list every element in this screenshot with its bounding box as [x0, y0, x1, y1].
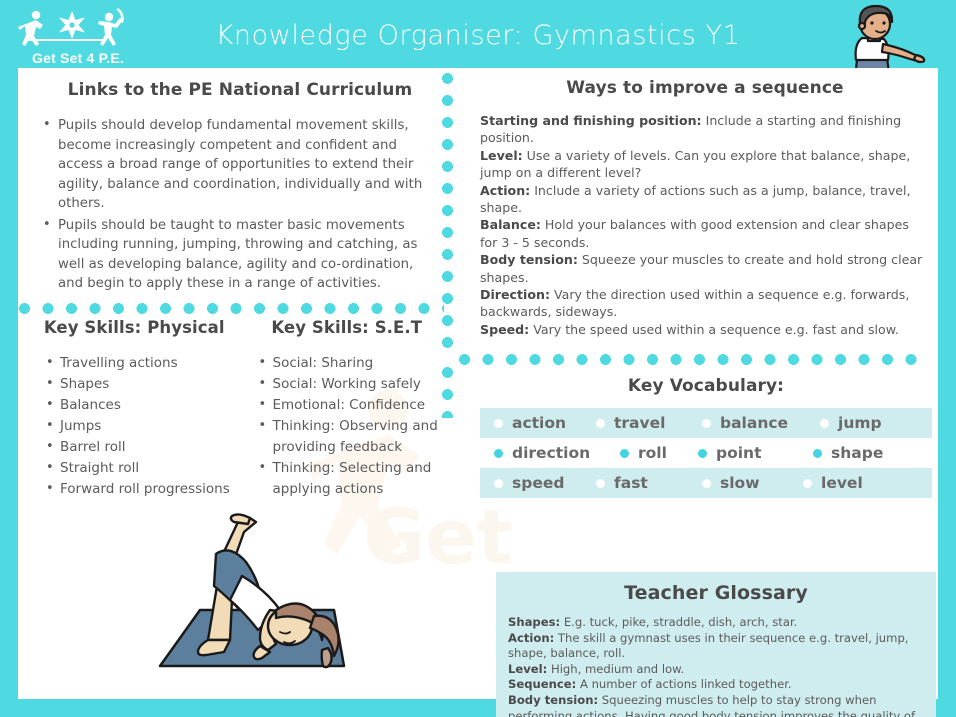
ways-entry: Body tension: Squeeze your muscles to cr… [480, 251, 930, 286]
vocabulary-word-label: level [821, 474, 863, 492]
list-item: Pupils should be taught to master basic … [40, 216, 440, 294]
list-item: Barrel roll [46, 437, 241, 458]
vertical-dotted-divider-left [441, 72, 454, 358]
page-header: Get Set 4 P.E. Knowledge Organiser: Gymn… [0, 0, 956, 68]
key-skills-set-list: Social: Sharing Social: Working safely E… [241, 353, 454, 500]
list-item: Travelling actions [46, 353, 241, 374]
ways-entry-term: Starting and finishing position: [480, 113, 702, 128]
vocabulary-word: speed [480, 474, 596, 492]
ways-entry-text: Include a variety of actions such as a j… [480, 183, 911, 215]
vocabulary-word: slow [702, 474, 803, 492]
vocabulary-word: level [803, 474, 863, 492]
glossary-entry-text: High, medium and low. [547, 662, 684, 676]
glossary-entry-term: Sequence: [508, 677, 576, 691]
vocabulary-word: travel [596, 414, 702, 432]
vocabulary-word-label: roll [638, 444, 667, 462]
vocabulary-word-label: action [512, 414, 566, 432]
vocabulary-word-label: fast [614, 474, 648, 492]
ways-entry-term: Level: [480, 148, 523, 163]
bullet-icon [494, 449, 503, 458]
vocabulary-word-label: point [716, 444, 762, 462]
svg-text:Get: Get [363, 492, 513, 581]
list-item: Shapes [46, 374, 241, 395]
list-item: Balances [46, 395, 241, 416]
list-item: Straight roll [46, 458, 241, 479]
list-item: Jumps [46, 416, 241, 437]
glossary-entry-term: Action: [508, 631, 554, 645]
vocabulary-word: direction [480, 444, 620, 462]
knowledge-organiser-page: Get Set 4 P.E. Knowledge Organiser: Gymn… [0, 0, 956, 717]
bullet-icon [820, 419, 829, 428]
key-skills-physical-title: Key Skills: Physical [28, 318, 241, 337]
bullet-icon [494, 479, 503, 488]
page-title: Knowledge Organiser: Gymnastics Y1 [0, 20, 956, 51]
ways-entry-text: Hold your balances with good extension a… [480, 217, 909, 249]
glossary-entry-term: Shapes: [508, 615, 560, 629]
vocabulary-word: point [698, 444, 813, 462]
list-item: Pupils should develop fundamental moveme… [40, 116, 440, 214]
glossary-entry-text: The skill a gymnast uses in their sequen… [508, 631, 909, 661]
vocabulary-row: speed fast slow level [480, 468, 932, 498]
bullet-icon [698, 449, 707, 458]
key-skills-section: Key Skills: Physical Travelling actions … [28, 318, 453, 500]
teacher-glossary-panel: Teacher Glossary Shapes: E.g. tuck, pike… [496, 572, 936, 717]
glossary-entry-text: A number of actions linked together. [576, 677, 791, 691]
ways-entry: Starting and finishing position: Include… [480, 112, 930, 147]
bullet-icon [813, 449, 822, 458]
bullet-icon [596, 419, 605, 428]
key-skills-physical-list: Travelling actions Shapes Balances Jumps… [28, 353, 241, 500]
vocabulary-word-label: shape [831, 444, 883, 462]
key-skills-set-title: Key Skills: S.E.T [241, 318, 454, 337]
list-item: Social: Working safely [259, 374, 454, 395]
glossary-entry-term: Level: [508, 662, 547, 676]
ways-entry-text: Vary the speed used within a sequence e.… [529, 322, 899, 337]
horizontal-dotted-divider-right [458, 353, 928, 366]
content-sheet: Get Links to the PE National Curriculum … [18, 68, 938, 699]
bullet-icon [494, 419, 503, 428]
list-item: Thinking: Selecting and applying actions [259, 458, 454, 500]
ways-entry: Direction: Vary the direction used withi… [480, 286, 930, 321]
list-item: Social: Sharing [259, 353, 454, 374]
vocabulary-word: roll [620, 444, 698, 462]
vocabulary-word-label: slow [720, 474, 760, 492]
girl-forward-roll-on-mat-illustration [138, 498, 358, 678]
glossary-entry: Body tension: Squeezing muscles to help … [508, 693, 924, 717]
vocabulary-word-label: direction [512, 444, 590, 462]
list-item: Thinking: Observing and providing feedba… [259, 416, 454, 458]
ways-entry-text: Use a variety of levels. Can you explore… [480, 148, 910, 180]
glossary-entry-text: E.g. tuck, pike, straddle, dish, arch, s… [560, 615, 797, 629]
ways-entry-term: Balance: [480, 217, 541, 232]
vocabulary-row: direction roll point shape [480, 438, 932, 468]
glossary-entry: Level: High, medium and low. [508, 662, 924, 678]
ways-entry-term: Speed: [480, 322, 529, 337]
vocabulary-word-label: jump [838, 414, 882, 432]
key-skills-set-panel: Key Skills: S.E.T Social: Sharing Social… [241, 318, 454, 500]
key-vocabulary-panel: Key Vocabulary: action travel balance ju… [480, 376, 932, 498]
ways-to-improve-panel: Ways to improve a sequence Starting and … [480, 78, 930, 338]
bullet-icon [702, 419, 711, 428]
ways-to-improve-title: Ways to improve a sequence [480, 78, 930, 98]
glossary-entry: Action: The skill a gymnast uses in thei… [508, 631, 924, 662]
glossary-entry: Shapes: E.g. tuck, pike, straddle, dish,… [508, 615, 924, 631]
ways-entry: Balance: Hold your balances with good ex… [480, 216, 930, 251]
vocabulary-word: fast [596, 474, 702, 492]
ways-entry-term: Action: [480, 183, 530, 198]
national-curriculum-list: Pupils should develop fundamental moveme… [40, 116, 440, 294]
vocabulary-word: action [480, 414, 596, 432]
list-item: Emotional: Confidence [259, 395, 454, 416]
vocabulary-word: balance [702, 414, 820, 432]
vocabulary-word-label: speed [512, 474, 564, 492]
horizontal-dotted-divider-left [18, 302, 444, 315]
bullet-icon [702, 479, 711, 488]
glossary-entry: Sequence: A number of actions linked tog… [508, 677, 924, 693]
bullet-icon [803, 479, 812, 488]
ways-entry-term: Direction: [480, 287, 550, 302]
national-curriculum-title: Links to the PE National Curriculum [40, 80, 440, 100]
teacher-glossary-title: Teacher Glossary [508, 582, 924, 604]
bullet-icon [596, 479, 605, 488]
key-vocabulary-title: Key Vocabulary: [480, 376, 932, 396]
bullet-icon [620, 449, 629, 458]
list-item: Forward roll progressions [46, 479, 241, 500]
key-skills-physical-panel: Key Skills: Physical Travelling actions … [28, 318, 241, 500]
vocabulary-row: action travel balance jump [480, 408, 932, 438]
logo-wordmark: Get Set 4 P.E. [32, 50, 124, 66]
ways-entry-term: Body tension: [480, 252, 578, 267]
ways-entry: Level: Use a variety of levels. Can you … [480, 147, 930, 182]
glossary-entry-term: Body tension: [508, 693, 598, 707]
vocabulary-word-label: travel [614, 414, 665, 432]
ways-entry: Speed: Vary the speed used within a sequ… [480, 321, 930, 338]
vocabulary-word: jump [820, 414, 882, 432]
vocabulary-word: shape [813, 444, 883, 462]
ways-entry: Action: Include a variety of actions suc… [480, 182, 930, 217]
vocabulary-word-label: balance [720, 414, 788, 432]
national-curriculum-panel: Links to the PE National Curriculum Pupi… [40, 80, 440, 296]
